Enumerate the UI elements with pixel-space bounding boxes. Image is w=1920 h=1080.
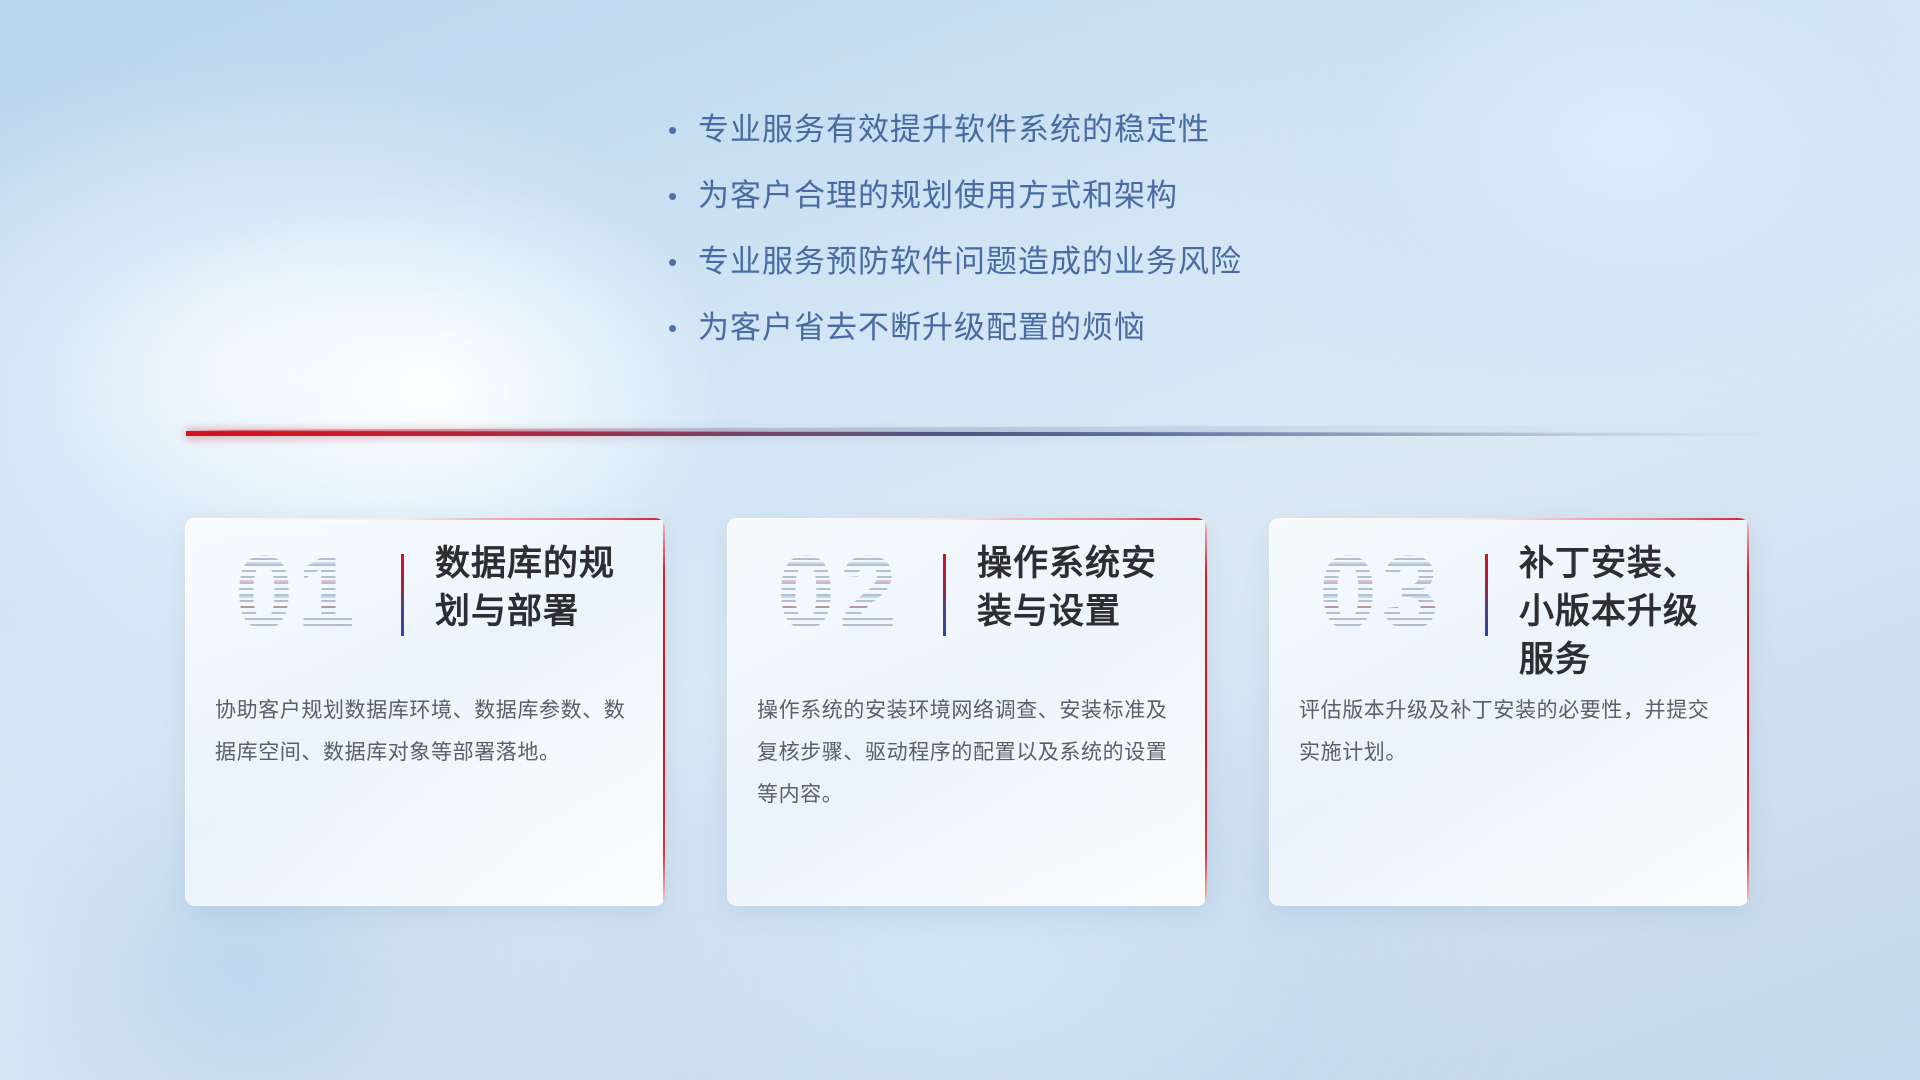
list-item: • 专业服务预防软件问题造成的业务风险 <box>668 242 1428 308</box>
card-header: 01 01 01 数据库的规划与部署 <box>185 518 665 668</box>
bullet-text: 专业服务有效提升软件系统的稳定性 <box>698 110 1210 150</box>
card-header: 03 03 03 补丁安装、小版本升级服务 <box>1269 518 1749 668</box>
service-card[interactable]: 01 01 01 数据库的规划与部署 协助客户规划数据库环境、数据库参数、数据库… <box>185 518 665 906</box>
benefits-bullet-list: • 专业服务有效提升软件系统的稳定性 • 为客户合理的规划使用方式和架构 • 专… <box>668 110 1428 374</box>
card-header: 02 02 02 操作系统安装与设置 <box>727 518 1207 668</box>
card-number-blue-tint: 01 <box>207 528 387 658</box>
service-card[interactable]: 02 02 02 操作系统安装与设置 操作系统的安装环境网络调查、安装标准及复核… <box>727 518 1207 906</box>
bullet-text: 专业服务预防软件问题造成的业务风险 <box>698 242 1242 282</box>
card-title-accent-bar <box>401 554 404 636</box>
card-body-text: 协助客户规划数据库环境、数据库参数、数据库空间、数据库对象等部署落地。 <box>215 690 635 774</box>
list-item: • 为客户合理的规划使用方式和架构 <box>668 176 1428 242</box>
card-body-text: 操作系统的安装环境网络调查、安装标准及复核步骤、驱动程序的配置以及系统的设置等内… <box>757 690 1177 816</box>
list-item: • 为客户省去不断升级配置的烦恼 <box>668 308 1428 374</box>
bullet-dot-icon: • <box>668 110 698 150</box>
card-body-text: 评估版本升级及补丁安装的必要性，并提交实施计划。 <box>1299 690 1719 774</box>
card-title: 数据库的规划与部署 <box>435 540 649 636</box>
list-item: • 专业服务有效提升软件系统的稳定性 <box>668 110 1428 176</box>
service-card-list: 01 01 01 数据库的规划与部署 协助客户规划数据库环境、数据库参数、数据库… <box>185 518 1749 906</box>
bullet-dot-icon: • <box>668 176 698 216</box>
section-divider <box>186 424 1776 446</box>
bullet-dot-icon: • <box>668 308 698 348</box>
service-card[interactable]: 03 03 03 补丁安装、小版本升级服务 评估版本升级及补丁安装的必要性，并提… <box>1269 518 1749 906</box>
bullet-dot-icon: • <box>668 242 698 282</box>
bullet-text: 为客户合理的规划使用方式和架构 <box>698 176 1178 216</box>
card-title: 操作系统安装与设置 <box>977 540 1191 636</box>
card-number-blue-tint: 02 <box>749 528 929 658</box>
bullet-text: 为客户省去不断升级配置的烦恼 <box>698 308 1146 348</box>
card-title-accent-bar <box>943 554 946 636</box>
card-title: 补丁安装、小版本升级服务 <box>1519 540 1733 684</box>
card-number-blue-tint: 03 <box>1291 528 1471 658</box>
card-title-accent-bar <box>1485 554 1488 636</box>
